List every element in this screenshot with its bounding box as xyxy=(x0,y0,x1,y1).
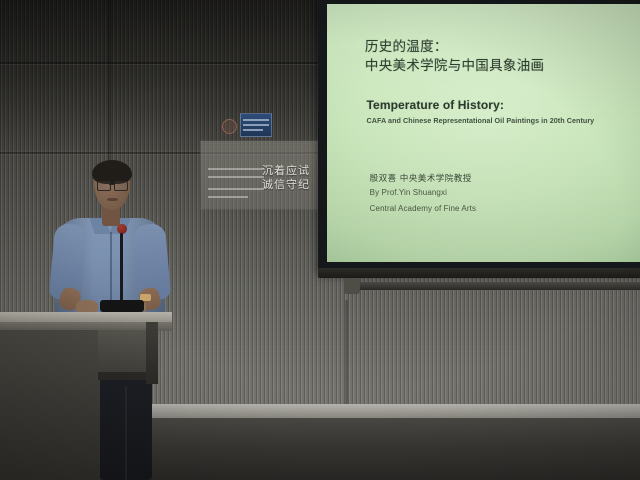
presenter-glasses-right-lens xyxy=(114,181,128,191)
slide-author-en-line1: By Prof.Yin Shuangxi xyxy=(370,188,447,197)
sign-text-bar-3 xyxy=(243,129,263,131)
screen-roller-bar xyxy=(318,268,640,278)
screen-support-pole xyxy=(352,282,640,290)
presenter-mouth xyxy=(107,198,118,201)
sign-text-bar-2 xyxy=(243,124,269,126)
presenter-glasses-left-lens xyxy=(97,181,111,191)
blue-notice-sign xyxy=(240,113,272,137)
slide-title-cn: 历史的温度： 中央美术学院与中国具象油画 xyxy=(365,38,544,77)
projection-screen-surface: 历史的温度： 中央美术学院与中国具象油画 Temperature of Hist… xyxy=(327,4,640,262)
podium-leg xyxy=(146,322,158,384)
poster-rule-1 xyxy=(208,168,264,170)
sign-text-bar-1 xyxy=(243,119,269,121)
wall-banner-text: 沉着应试 诚信守纪 xyxy=(262,164,310,192)
slide-author-en-line2: Central Academy of Fine Arts xyxy=(370,204,476,213)
microphone-stem xyxy=(120,233,123,305)
poster-rule-2 xyxy=(208,176,264,178)
poster-rule-4 xyxy=(208,196,248,198)
slide-subtitle-en: CAFA and Chinese Representational Oil Pa… xyxy=(367,116,595,125)
podium-body xyxy=(0,330,100,480)
lecture-hall-photo: 沉着应试 诚信守纪 历史的温度： 中央美术学院与中国具象油画 Temperatu… xyxy=(0,0,640,480)
round-emblem-icon xyxy=(222,119,237,134)
presenter-leg-gap xyxy=(125,386,127,480)
slide-content: 历史的温度： 中央美术学院与中国具象油画 Temperature of Hist… xyxy=(327,4,640,262)
slide-author-cn: 殷双喜 中央美术学院教授 xyxy=(370,172,472,184)
poster-rule-3 xyxy=(208,188,264,190)
slide-title-en: Temperature of History: xyxy=(367,98,504,112)
microphone-base xyxy=(100,300,144,312)
screen-pole-knob xyxy=(344,278,360,294)
presenter-glasses-bridge xyxy=(109,184,114,185)
